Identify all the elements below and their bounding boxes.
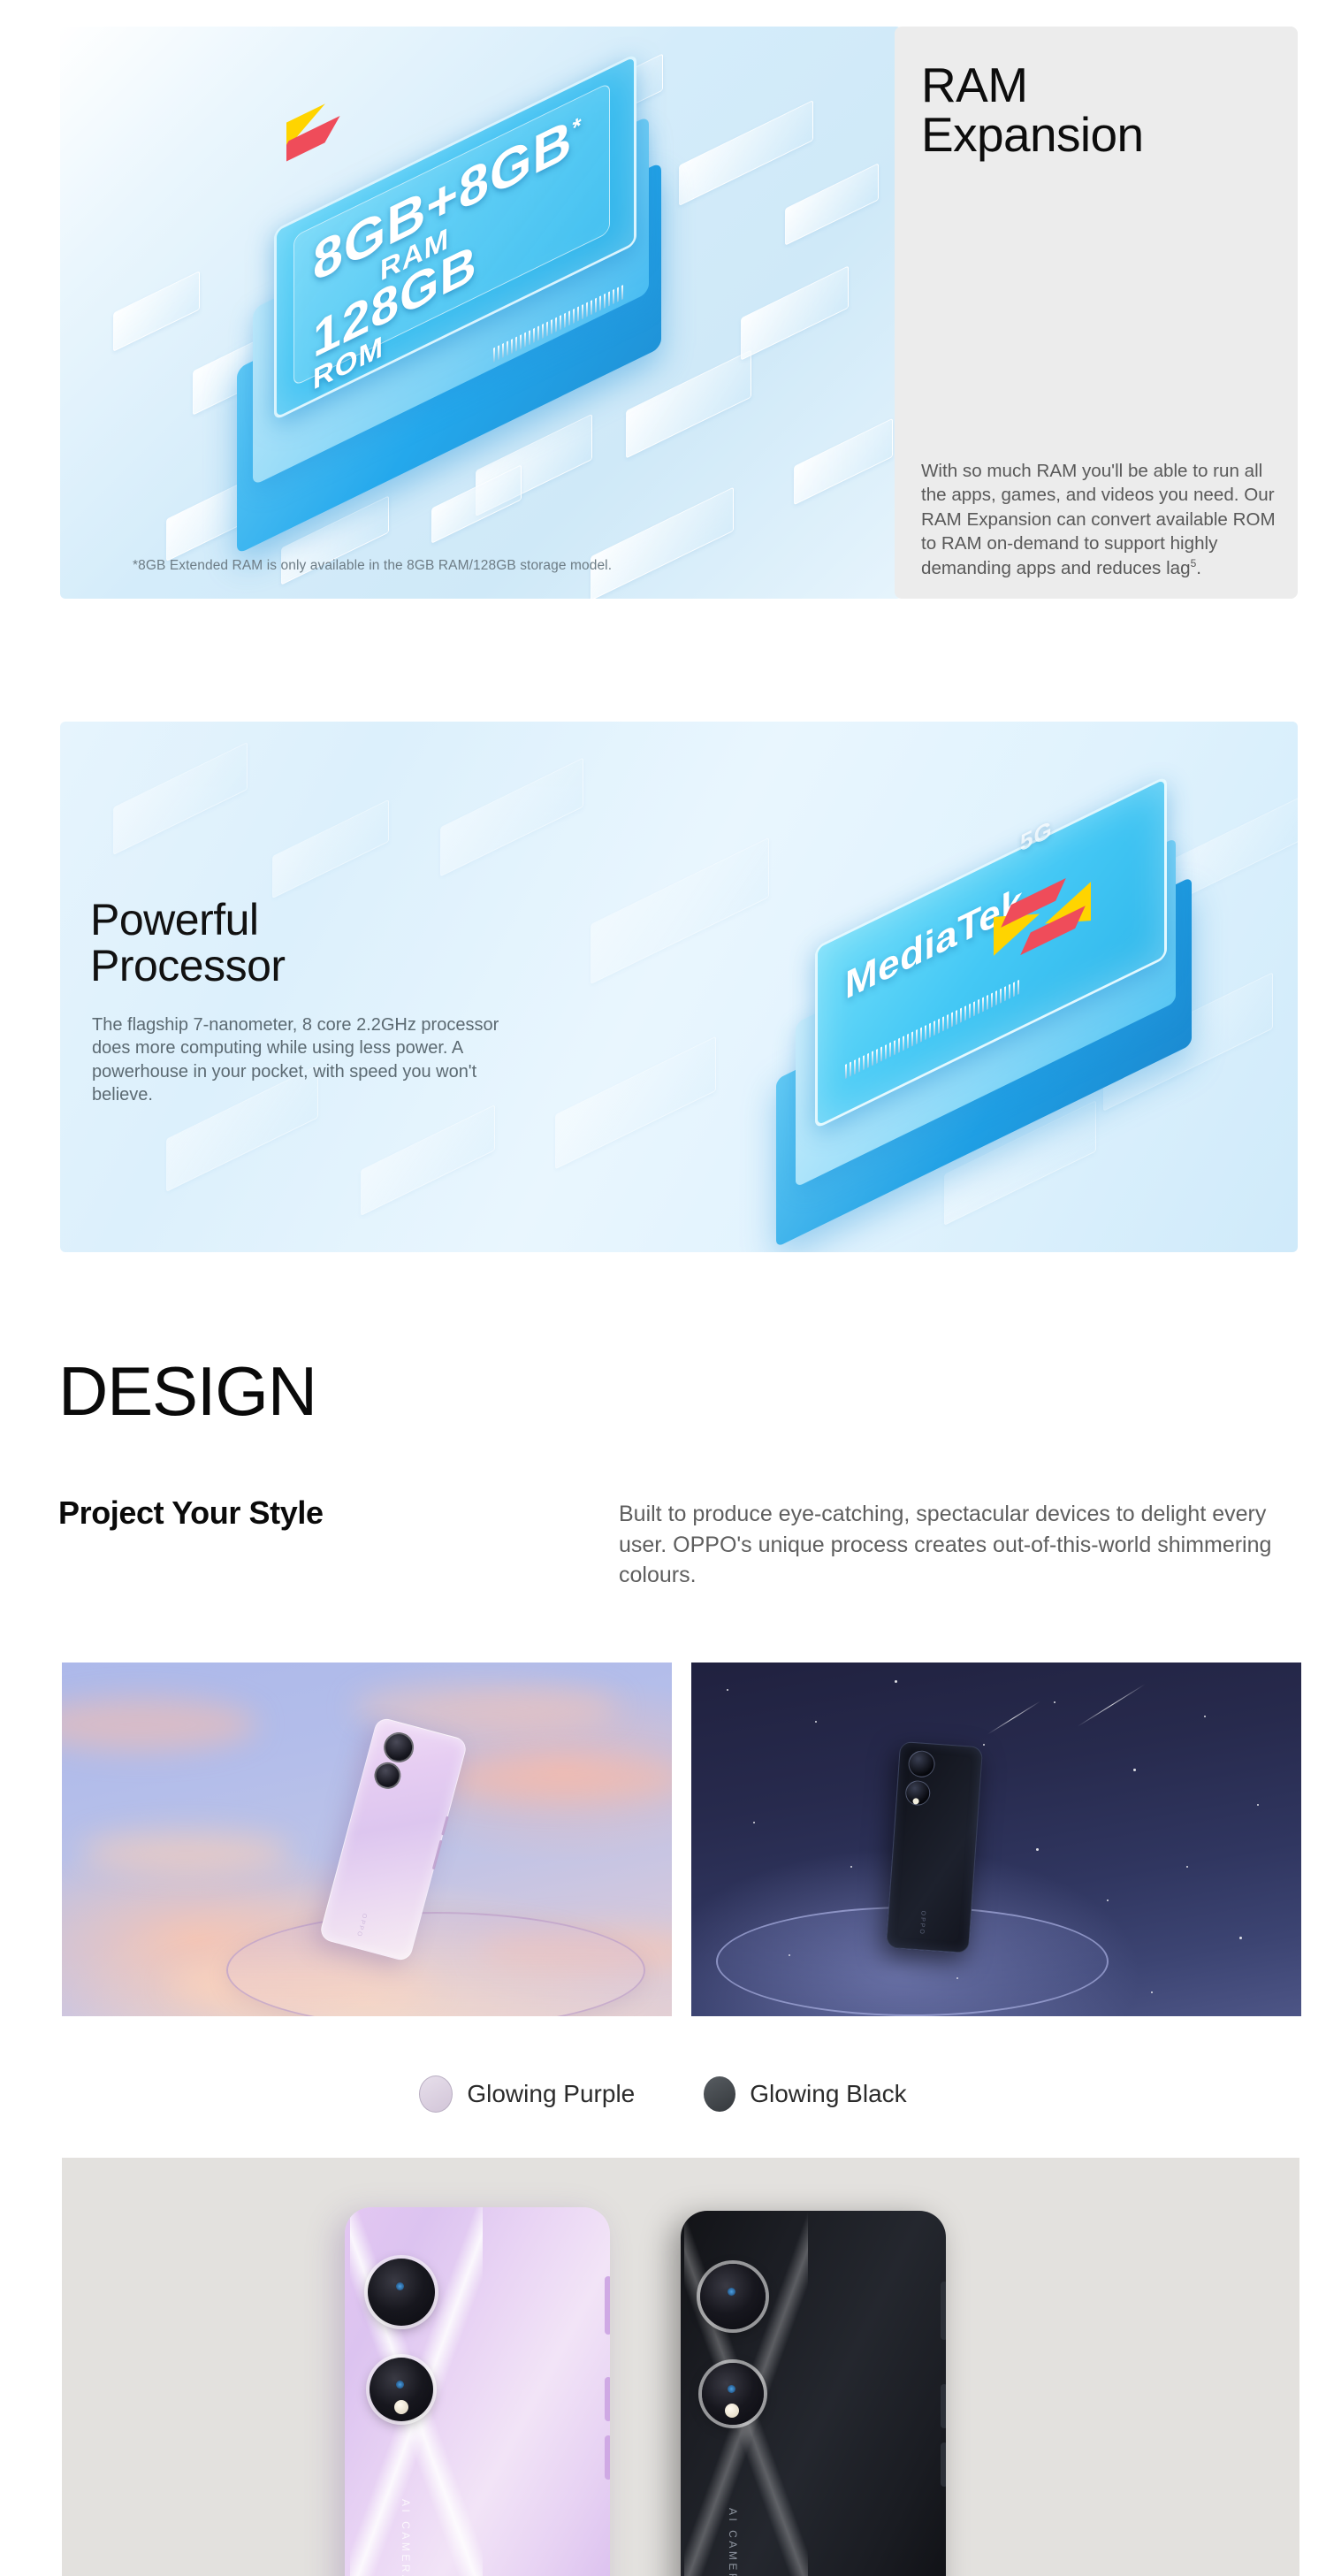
ram-text-panel: RAM Expansion With so much RAM you'll be… — [895, 27, 1298, 599]
design-subtitle: Project Your Style — [58, 1494, 324, 1532]
ram-expansion-section: 8GB+8GB* RAM 128GB ROM *8GB Extended RAM… — [0, 0, 1326, 619]
black-phone-device: OPPO — [886, 1741, 983, 1953]
circuit-block — [591, 837, 769, 985]
ram-body-text: With so much RAM you'll be able to run a… — [921, 459, 1287, 580]
star — [1036, 1848, 1039, 1851]
star — [1107, 1900, 1109, 1901]
circuit-block — [741, 265, 849, 361]
circuit-block — [785, 163, 879, 246]
colour-option-glowing-purple[interactable]: Glowing Purple — [419, 2075, 635, 2113]
swatch-label: Glowing Purple — [467, 2080, 635, 2108]
ram-heading: RAM Expansion — [921, 60, 1143, 159]
mediatek-logo-corner-icon — [286, 91, 350, 164]
power-button — [605, 2377, 610, 2421]
star — [753, 1822, 755, 1823]
processor-heading-line-2: Processor — [90, 943, 286, 989]
cloud-wisp — [442, 1758, 672, 1800]
ram-body-copy: With so much RAM you'll be able to run a… — [921, 461, 1276, 578]
design-body-text: Built to produce eye-catching, spectacul… — [619, 1499, 1308, 1591]
star — [1239, 1937, 1242, 1939]
star — [1204, 1716, 1206, 1717]
ram-chip-image: 8GB+8GB* RAM 128GB ROM *8GB Extended RAM… — [60, 27, 902, 599]
star — [1151, 1991, 1153, 1993]
camera-flash-icon — [394, 2400, 408, 2414]
processor-heading-line-1: Powerful — [90, 897, 286, 943]
swatch-dot-icon — [419, 2075, 453, 2113]
ai-camera-mark: AI CAMERA — [400, 2499, 412, 2576]
processor-body-text: The flagship 7-nanometer, 8 core 2.2GHz … — [92, 1013, 507, 1107]
swatch-label: Glowing Black — [750, 2080, 906, 2108]
colour-option-glowing-black[interactable]: Glowing Black — [704, 2076, 906, 2112]
device-closeup-panel: AI CAMERA AI CAMERA — [62, 2158, 1299, 2576]
circuit-block — [361, 1105, 495, 1216]
star — [850, 1866, 852, 1868]
purple-phone-closeup: AI CAMERA — [345, 2207, 610, 2576]
circuit-block — [440, 757, 583, 876]
camera-lens-icon — [380, 1729, 417, 1766]
star — [727, 1689, 728, 1691]
star — [1186, 1866, 1188, 1868]
shooting-star — [1078, 1684, 1146, 1727]
circuit-block — [113, 742, 248, 855]
ram-heading-line-1: RAM — [921, 60, 1143, 110]
black-phone-hero-photo: OPPO — [691, 1663, 1301, 2016]
power-button — [941, 2442, 946, 2487]
power-button — [605, 2435, 610, 2480]
cloud-wisp — [62, 1698, 256, 1751]
camera-lens-icon — [700, 2264, 766, 2329]
volume-button — [605, 2276, 610, 2335]
circuit-block — [794, 418, 893, 506]
shooting-star — [987, 1701, 1040, 1735]
camera-island — [901, 1747, 944, 1821]
camera-lens-icon — [371, 1759, 404, 1792]
circuit-block — [555, 1036, 716, 1170]
oppo-brand-mark: OPPO — [918, 1910, 926, 1936]
volume-button — [441, 1816, 449, 1836]
volume-button — [941, 2282, 946, 2340]
powerful-processor-section: Powerful Processor The flagship 7-nanome… — [60, 722, 1298, 1252]
camera-lens-icon — [908, 1750, 936, 1778]
ram-body-period: . — [1196, 558, 1201, 578]
design-section-title: DESIGN — [58, 1357, 316, 1426]
ram-footnote: *8GB Extended RAM is only available in t… — [133, 558, 612, 574]
camera-island — [366, 1726, 424, 1808]
power-button — [432, 1840, 443, 1870]
purple-phone-hero-photo: OPPO — [62, 1663, 672, 2016]
star — [815, 1721, 817, 1723]
star — [895, 1680, 897, 1683]
star — [1257, 1804, 1259, 1806]
camera-flash-icon — [725, 2404, 739, 2418]
oppo-brand-mark: OPPO — [355, 1913, 368, 1938]
colour-swatch-legend: Glowing Purple Glowing Black — [0, 2060, 1326, 2128]
swatch-dot-icon — [704, 2076, 735, 2112]
star — [983, 1744, 985, 1746]
black-phone-closeup: AI CAMERA — [681, 2211, 946, 2576]
circuit-block — [591, 486, 734, 599]
power-button — [941, 2384, 946, 2428]
ram-heading-line-2: Expansion — [921, 110, 1143, 159]
processor-heading: Powerful Processor — [90, 897, 286, 989]
star — [1054, 1701, 1055, 1703]
camera-lens-icon — [368, 2259, 435, 2326]
memory-chip-graphic: 8GB+8GB* RAM 128GB ROM — [228, 80, 723, 478]
cloud-wisp — [80, 1831, 292, 1871]
circuit-block — [113, 271, 200, 352]
ai-camera-mark: AI CAMERA — [727, 2508, 739, 2576]
circuit-block — [272, 799, 389, 898]
star — [1133, 1769, 1136, 1771]
mediatek-chip-graphic: 5G MediaTek — [750, 757, 1298, 1217]
